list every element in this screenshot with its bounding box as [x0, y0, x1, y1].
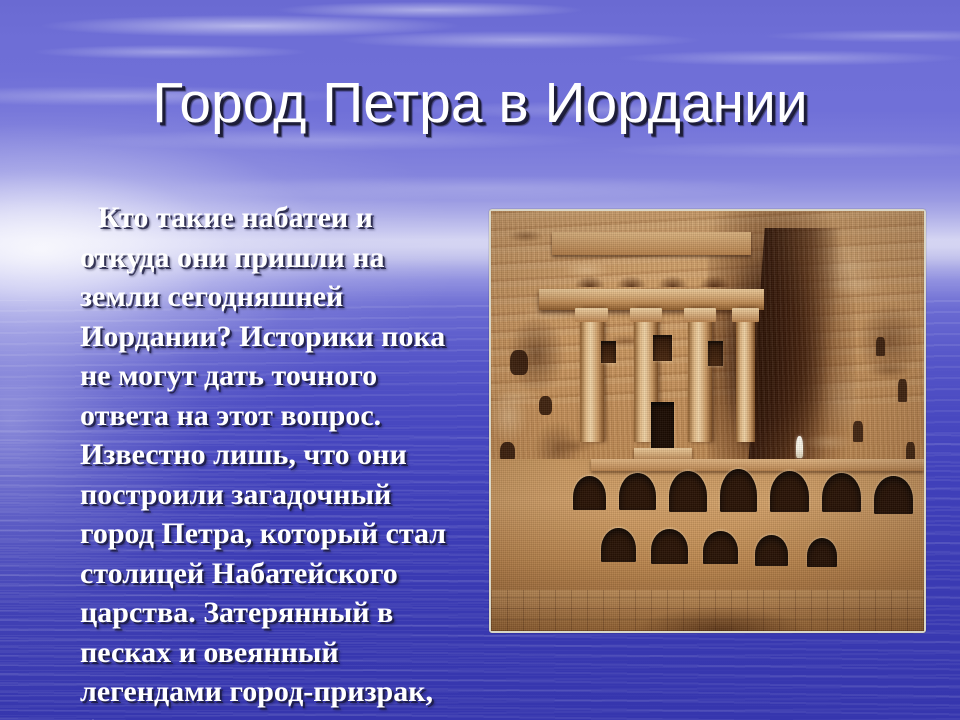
- presentation-slide: Город Петра в Иордании Кто такие набатеи…: [0, 0, 960, 720]
- photo-grain: [491, 211, 924, 631]
- slide-title: Город Петра в Иордании: [0, 72, 960, 134]
- slide-body-text: Кто такие набатеи и откуда они пришли на…: [80, 198, 460, 720]
- photo-content: [491, 211, 924, 631]
- petra-photo: [489, 209, 926, 633]
